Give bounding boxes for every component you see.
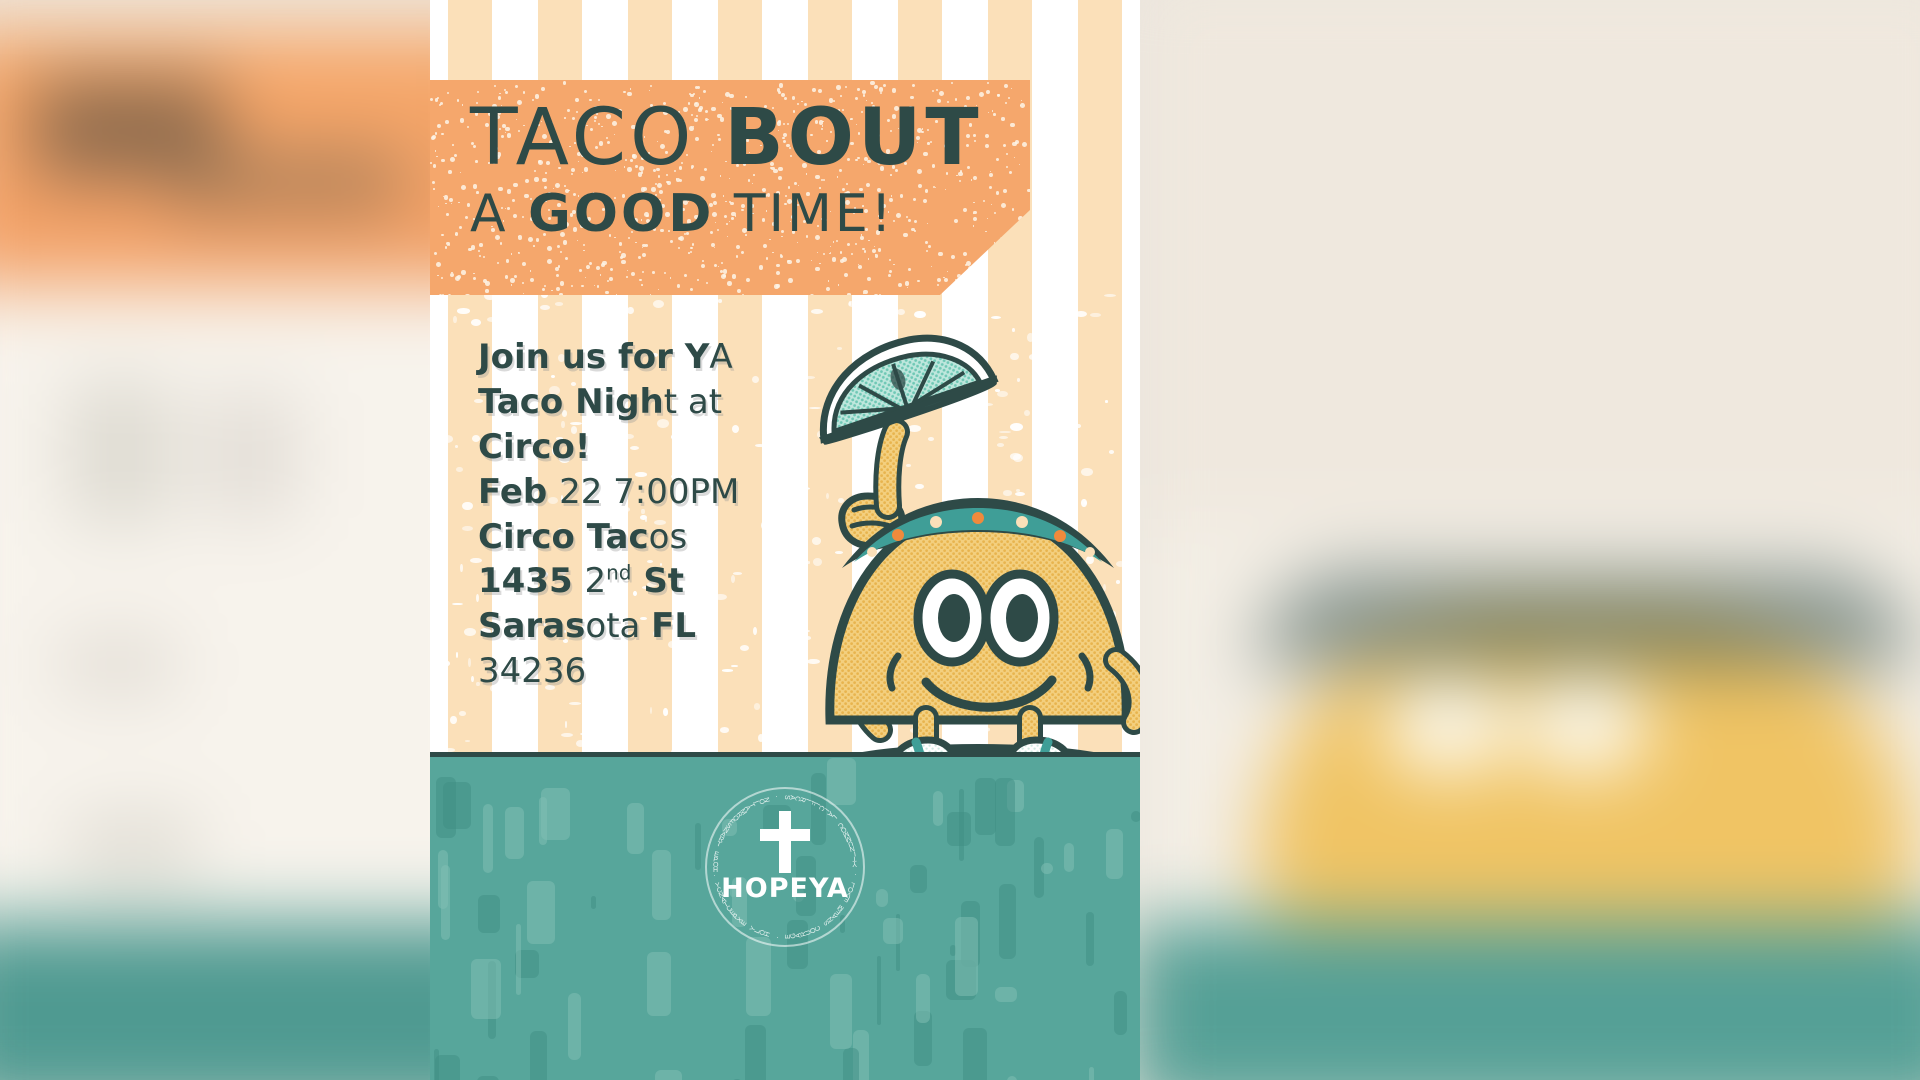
- footer-texture-mark: [1007, 1076, 1018, 1080]
- intro-bold-1: Join us for Y: [478, 337, 709, 377]
- footer-texture-mark: [963, 1028, 987, 1080]
- bg-blob-4: [202, 392, 297, 519]
- filling-bit: [930, 516, 942, 528]
- venue-name-plain: os: [649, 517, 688, 557]
- footer-texture-mark: [745, 1025, 766, 1080]
- filling-bit: [1054, 530, 1066, 542]
- logo-ring-char: ·: [773, 795, 780, 798]
- logo-ring-char: E: [785, 934, 792, 939]
- footer-texture-mark: [483, 804, 493, 873]
- footer-texture-mark: [652, 850, 671, 920]
- footer-texture-mark: [443, 782, 472, 829]
- footer-texture-mark: [830, 974, 852, 1049]
- bg-blob-2: [170, 153, 403, 211]
- intro-bold-2: Taco Nigh: [478, 382, 664, 422]
- headline-line-1: TACO BOUT: [470, 98, 1030, 180]
- headline-time: TIME!: [714, 184, 894, 244]
- taco-mascot-illustration: [730, 300, 1140, 800]
- footer-texture-mark: [1106, 829, 1124, 879]
- footer-texture-mark: [955, 917, 978, 996]
- footer-texture-mark: [478, 895, 500, 934]
- logo-word-ya: YA: [809, 873, 849, 904]
- footer-texture-mark: [947, 812, 972, 846]
- background-taco-eye-left: [1384, 678, 1511, 773]
- footer-texture-mark: [516, 924, 522, 995]
- headline-good: GOOD: [528, 184, 714, 244]
- cross-icon: [752, 809, 818, 875]
- flyer-footer: HOPE TRANSFORMATION · SACRIFICIAL COMMUN…: [430, 757, 1140, 1080]
- filling-bit: [892, 529, 904, 541]
- headline-banner: TACO BOUT A GOOD TIME!: [430, 80, 1030, 295]
- logo-ring-char: ·: [774, 935, 781, 939]
- footer-texture-mark: [627, 803, 644, 854]
- filling-bit: [972, 512, 984, 524]
- footer-texture-mark: [1114, 991, 1127, 1035]
- footer-texture-mark: [1089, 1067, 1094, 1080]
- footer-texture-mark: [505, 807, 524, 859]
- street-name: St: [631, 561, 684, 601]
- background-taco-shell: [1257, 572, 1914, 667]
- hope-ya-logo: HOPE TRANSFORMATION · SACRIFICIAL COMMUN…: [705, 787, 865, 947]
- footer-texture-mark: [441, 865, 451, 940]
- logo-word-hope: HOPE: [721, 873, 809, 904]
- mascot-pupil-left: [938, 594, 970, 642]
- footer-texture-mark: [995, 987, 1017, 1002]
- logo-ring-char: N: [762, 797, 770, 804]
- logo-ring-char: L: [830, 813, 838, 821]
- intro-bold-3: Circo!: [478, 427, 590, 467]
- state: FL: [651, 606, 696, 646]
- background-taco-eye-right: [1522, 678, 1649, 773]
- footer-texture-mark: [530, 1031, 547, 1080]
- footer-texture-mark: [591, 896, 597, 909]
- footer-texture-mark: [647, 952, 671, 1016]
- footer-texture-mark: [695, 823, 702, 870]
- headline-taco: TACO: [470, 93, 724, 183]
- filling-bit: [1016, 516, 1028, 528]
- bg-blob-3: [70, 381, 171, 524]
- event-day: 22: [559, 472, 613, 512]
- footer-texture-mark: [434, 1049, 440, 1080]
- street-number: 1435: [478, 561, 584, 601]
- city-bold: Saras: [478, 606, 585, 646]
- footer-texture-mark: [877, 956, 881, 1024]
- headline-bout: BOUT: [724, 93, 982, 183]
- street-ordinal: 2: [584, 561, 606, 601]
- footer-texture-mark: [876, 889, 888, 907]
- street-ordinal-suffix: nd: [606, 561, 631, 585]
- footer-texture-mark: [477, 1076, 500, 1080]
- taco-mascot-svg: [730, 300, 1140, 800]
- intro-plain-2: t at: [664, 382, 722, 422]
- footer-texture-mark: [843, 1048, 859, 1080]
- logo-ring-char: E: [713, 851, 720, 859]
- footer-texture-mark: [883, 918, 902, 944]
- headline-a: A: [470, 184, 528, 244]
- headline-line-2: A GOOD TIME!: [470, 186, 1030, 243]
- city-plain: ota: [585, 606, 651, 646]
- background-taco-ghost: [1257, 604, 1914, 922]
- logo-ring-char: Y: [852, 860, 857, 867]
- footer-texture-mark: [910, 865, 927, 893]
- background-right: [1130, 0, 1920, 1080]
- logo-wordmark: HOPEYA: [705, 873, 865, 904]
- footer-texture-mark: [916, 974, 930, 1023]
- mascot-pupil-right: [1006, 594, 1038, 642]
- screenshot-stage: TACO BOUT A GOOD TIME! Join us for YA Ta…: [0, 0, 1920, 1080]
- footer-texture-mark: [471, 959, 501, 1019]
- footer-texture-mark: [999, 884, 1016, 958]
- footer-texture-mark: [655, 1070, 682, 1080]
- footer-texture-mark: [539, 797, 547, 845]
- footer-texture-mark: [1064, 843, 1074, 872]
- footer-texture-mark: [975, 778, 996, 834]
- footer-texture-mark: [527, 881, 555, 944]
- banner-text-block: TACO BOUT A GOOD TIME!: [430, 80, 1030, 295]
- bg-blob-5: [59, 635, 176, 693]
- footer-texture-mark: [933, 791, 943, 825]
- flyer-card: TACO BOUT A GOOD TIME! Join us for YA Ta…: [430, 0, 1140, 1080]
- event-month: Feb: [478, 472, 559, 512]
- footer-texture-mark: [1086, 912, 1095, 966]
- filling-bit: [1085, 547, 1095, 557]
- zip: 34236: [478, 651, 586, 691]
- filling-bit: [867, 547, 877, 557]
- footer-texture-mark: [568, 993, 581, 1060]
- footer-texture-mark: [746, 937, 771, 1015]
- event-time: 7:00PM: [613, 472, 739, 512]
- mascot-index-finger: [887, 432, 896, 506]
- footer-texture-mark: [995, 778, 1015, 846]
- venue-name-bold: Circo Tac: [478, 517, 649, 557]
- footer-texture-mark: [1041, 863, 1053, 874]
- footer-texture-mark: [1131, 811, 1140, 822]
- bg-blob-6: [70, 816, 197, 880]
